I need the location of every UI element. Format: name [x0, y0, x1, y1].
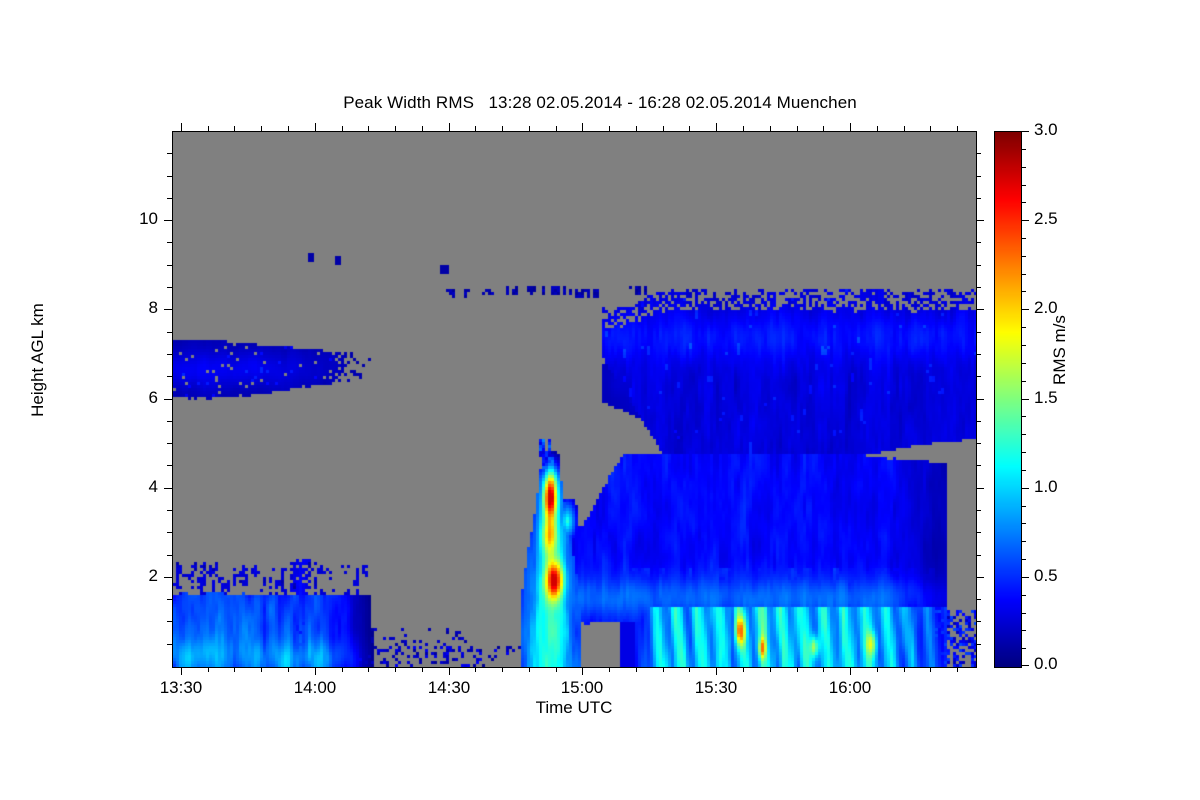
- x-axis-minor-tick: [288, 667, 289, 672]
- x-axis-minor-tick: [877, 667, 878, 672]
- x-axis-minor-tick: [234, 667, 235, 672]
- y-axis-minor-tick: [976, 265, 981, 266]
- y-axis-minor-tick: [167, 242, 172, 243]
- y-axis-major-tick: [164, 309, 172, 310]
- colorbar-major-tick: [1022, 131, 1029, 132]
- colorbar-minor-tick: [1022, 506, 1026, 507]
- colorbar[interactable]: [994, 131, 1022, 668]
- colorbar-minor-tick: [1022, 595, 1026, 596]
- x-axis-minor-tick: [208, 126, 209, 131]
- y-axis-minor-tick: [167, 510, 172, 511]
- x-axis-minor-tick: [770, 126, 771, 131]
- x-axis-tick-label: 16:00: [805, 678, 895, 698]
- y-axis-major-tick: [164, 399, 172, 400]
- x-axis-minor-tick: [743, 126, 744, 131]
- x-axis-minor-tick: [797, 667, 798, 672]
- colorbar-tick-label: 2.5: [1034, 209, 1086, 229]
- y-axis-minor-tick: [976, 242, 981, 243]
- x-axis-minor-tick: [930, 126, 931, 131]
- y-axis-major-tick: [164, 488, 172, 489]
- x-axis-minor-tick: [770, 667, 771, 672]
- colorbar-major-tick: [1022, 309, 1029, 310]
- x-axis-minor-tick: [261, 667, 262, 672]
- y-axis-major-tick: [976, 488, 984, 489]
- x-axis-major-tick: [716, 667, 717, 675]
- x-axis-minor-tick: [556, 667, 557, 672]
- x-axis-minor-tick: [368, 667, 369, 672]
- y-axis-minor-tick: [167, 376, 172, 377]
- colorbar-gradient: [995, 132, 1021, 667]
- colorbar-major-tick: [1022, 220, 1029, 221]
- colorbar-minor-tick: [1022, 167, 1026, 168]
- y-axis-minor-tick: [976, 644, 981, 645]
- colorbar-tick-label: 0.5: [1034, 566, 1086, 586]
- x-axis-major-tick: [315, 123, 316, 131]
- y-axis-minor-tick: [976, 465, 981, 466]
- lidar-rms-heatmap: [173, 132, 976, 667]
- x-axis-minor-tick: [475, 667, 476, 672]
- x-axis-minor-tick: [743, 667, 744, 672]
- figure-canvas: Peak Width RMS 13:28 02.05.2014 - 16:28 …: [0, 0, 1200, 800]
- y-axis-major-tick: [976, 220, 984, 221]
- y-axis-minor-tick: [167, 198, 172, 199]
- x-axis-major-tick: [582, 123, 583, 131]
- colorbar-minor-tick: [1022, 202, 1026, 203]
- x-axis-minor-tick: [823, 126, 824, 131]
- colorbar-minor-tick: [1022, 381, 1026, 382]
- y-axis-label: Height AGL km: [28, 250, 48, 470]
- x-axis-minor-tick: [636, 667, 637, 672]
- x-axis-label: Time UTC: [0, 698, 1148, 718]
- x-axis-minor-tick: [502, 126, 503, 131]
- colorbar-major-tick: [1022, 577, 1029, 578]
- x-axis-minor-tick: [529, 126, 530, 131]
- colorbar-minor-tick: [1022, 630, 1026, 631]
- page-title: Peak Width RMS 13:28 02.05.2014 - 16:28 …: [0, 93, 1200, 113]
- x-axis-minor-tick: [823, 667, 824, 672]
- colorbar-major-tick: [1022, 665, 1029, 666]
- x-axis-tick-label: 14:00: [270, 678, 360, 698]
- y-axis-minor-tick: [976, 153, 981, 154]
- x-axis-minor-tick: [422, 667, 423, 672]
- colorbar-minor-tick: [1022, 470, 1026, 471]
- y-axis-tick-label: 4: [118, 477, 158, 497]
- y-axis-major-tick: [164, 220, 172, 221]
- x-axis-minor-tick: [636, 126, 637, 131]
- x-axis-minor-tick: [663, 126, 664, 131]
- x-axis-minor-tick: [797, 126, 798, 131]
- colorbar-minor-tick: [1022, 345, 1026, 346]
- y-axis-minor-tick: [167, 621, 172, 622]
- colorbar-minor-tick: [1022, 274, 1026, 275]
- x-axis-minor-tick: [609, 667, 610, 672]
- x-axis-minor-tick: [609, 126, 610, 131]
- colorbar-major-tick: [1022, 399, 1029, 400]
- colorbar-minor-tick: [1022, 416, 1026, 417]
- colorbar-tick-label: 0.0: [1034, 654, 1086, 674]
- x-axis-minor-tick: [475, 126, 476, 131]
- x-axis-minor-tick: [261, 126, 262, 131]
- colorbar-minor-tick: [1022, 434, 1026, 435]
- x-axis-minor-tick: [288, 126, 289, 131]
- y-axis-minor-tick: [976, 621, 981, 622]
- y-axis-minor-tick: [976, 198, 981, 199]
- y-axis-tick-label: 8: [118, 298, 158, 318]
- y-axis-tick-label: 6: [118, 388, 158, 408]
- y-axis-major-tick: [976, 399, 984, 400]
- y-axis-minor-tick: [976, 443, 981, 444]
- y-axis-minor-tick: [976, 510, 981, 511]
- colorbar-minor-tick: [1022, 238, 1026, 239]
- x-axis-major-tick: [850, 123, 851, 131]
- x-axis-tick-label: 13:30: [136, 678, 226, 698]
- y-axis-minor-tick: [167, 287, 172, 288]
- x-axis-minor-tick: [930, 667, 931, 672]
- colorbar-tick-label: 2.0: [1034, 298, 1086, 318]
- y-axis-major-tick: [976, 577, 984, 578]
- x-axis-tick-label: 14:30: [404, 678, 494, 698]
- x-axis-major-tick: [449, 667, 450, 675]
- x-axis-minor-tick: [904, 126, 905, 131]
- y-axis-minor-tick: [976, 287, 981, 288]
- y-axis-minor-tick: [976, 599, 981, 600]
- x-axis-minor-tick: [556, 126, 557, 131]
- y-axis-major-tick: [976, 309, 984, 310]
- x-axis-minor-tick: [368, 126, 369, 131]
- colorbar-minor-tick: [1022, 291, 1026, 292]
- y-axis-major-tick: [164, 577, 172, 578]
- y-axis-minor-tick: [167, 644, 172, 645]
- colorbar-minor-tick: [1022, 523, 1026, 524]
- x-axis-major-tick: [315, 667, 316, 675]
- y-axis-minor-tick: [167, 599, 172, 600]
- y-axis-tick-label: 10: [118, 209, 158, 229]
- y-axis-minor-tick: [976, 376, 981, 377]
- x-axis-minor-tick: [342, 126, 343, 131]
- y-axis-minor-tick: [976, 555, 981, 556]
- x-axis-minor-tick: [395, 667, 396, 672]
- x-axis-minor-tick: [663, 667, 664, 672]
- y-axis-minor-tick: [167, 265, 172, 266]
- y-axis-minor-tick: [167, 532, 172, 533]
- x-axis-minor-tick: [208, 667, 209, 672]
- colorbar-minor-tick: [1022, 149, 1026, 150]
- colorbar-tick-label: 3.0: [1034, 120, 1086, 140]
- x-axis-minor-tick: [395, 126, 396, 131]
- y-axis-minor-tick: [167, 153, 172, 154]
- colorbar-major-tick: [1022, 488, 1029, 489]
- x-axis-major-tick: [850, 667, 851, 675]
- x-axis-minor-tick: [342, 667, 343, 672]
- x-axis-minor-tick: [689, 126, 690, 131]
- x-axis-minor-tick: [234, 126, 235, 131]
- x-axis-tick-label: 15:00: [537, 678, 627, 698]
- x-axis-minor-tick: [877, 126, 878, 131]
- y-axis-minor-tick: [167, 443, 172, 444]
- colorbar-minor-tick: [1022, 452, 1026, 453]
- y-axis-minor-tick: [167, 421, 172, 422]
- colorbar-minor-tick: [1022, 256, 1026, 257]
- y-axis-minor-tick: [167, 555, 172, 556]
- x-axis-minor-tick: [957, 126, 958, 131]
- x-axis-minor-tick: [689, 667, 690, 672]
- x-axis-tick-label: 15:30: [671, 678, 761, 698]
- colorbar-minor-tick: [1022, 541, 1026, 542]
- x-axis-major-tick: [181, 123, 182, 131]
- colorbar-minor-tick: [1022, 559, 1026, 560]
- colorbar-minor-tick: [1022, 185, 1026, 186]
- y-axis-minor-tick: [167, 332, 172, 333]
- colorbar-minor-tick: [1022, 613, 1026, 614]
- x-axis-major-tick: [181, 667, 182, 675]
- x-axis-minor-tick: [502, 667, 503, 672]
- colorbar-minor-tick: [1022, 363, 1026, 364]
- colorbar-tick-label: 1.5: [1034, 388, 1086, 408]
- y-axis-minor-tick: [976, 354, 981, 355]
- x-axis-minor-tick: [957, 667, 958, 672]
- y-axis-minor-tick: [976, 421, 981, 422]
- x-axis-major-tick: [716, 123, 717, 131]
- x-axis-major-tick: [582, 667, 583, 675]
- colorbar-tick-label: 1.0: [1034, 477, 1086, 497]
- heatmap-plot-area[interactable]: [172, 131, 977, 668]
- y-axis-tick-label: 2: [118, 566, 158, 586]
- y-axis-minor-tick: [976, 332, 981, 333]
- y-axis-minor-tick: [167, 465, 172, 466]
- x-axis-major-tick: [449, 123, 450, 131]
- x-axis-minor-tick: [904, 667, 905, 672]
- y-axis-minor-tick: [976, 532, 981, 533]
- y-axis-minor-tick: [167, 176, 172, 177]
- colorbar-minor-tick: [1022, 648, 1026, 649]
- colorbar-minor-tick: [1022, 327, 1026, 328]
- y-axis-minor-tick: [976, 176, 981, 177]
- x-axis-minor-tick: [422, 126, 423, 131]
- x-axis-minor-tick: [529, 667, 530, 672]
- y-axis-minor-tick: [167, 354, 172, 355]
